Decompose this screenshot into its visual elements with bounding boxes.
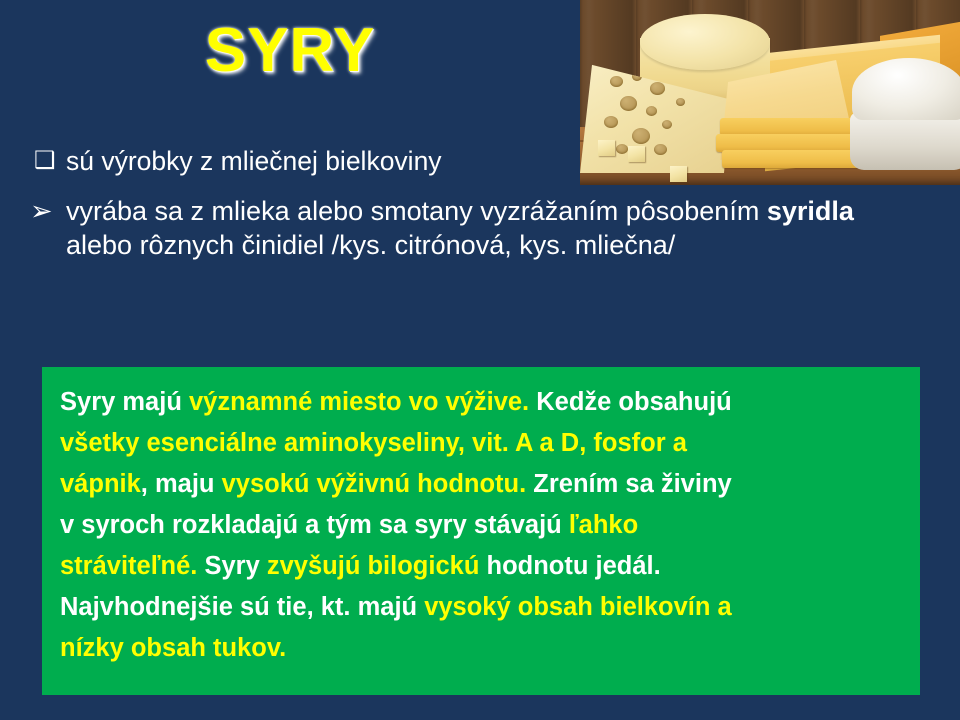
list-item: ➢ vyrába sa z mlieka alebo smotany vyzrá… [18,194,918,262]
arrow-bullet-icon: ➢ [30,194,53,228]
callout-line: vápnik, maju vysokú výživnú hodnotu. Zre… [60,464,902,505]
list-item: ❑ sú výrobky z mliečnej bielkoviny [18,144,918,178]
slide-canvas: SYRY [0,0,960,720]
emphasis-syridla: syridla [767,196,854,226]
callout-line: Najvhodnejšie sú tie, kt. majú vysoký ob… [60,587,902,628]
brie-wheel-top [852,58,960,120]
callout-line: všetky esenciálne aminokyseliny, vit. A … [60,423,902,464]
callout-line: v syroch rozkladajú a tým sa syry stávaj… [60,505,902,546]
callout-line: Syry majú významné miesto vo výžive. Ked… [60,382,902,423]
list-item-text: vyrába sa z mlieka alebo smotany vyzráža… [66,196,854,260]
square-bullet-icon: ❑ [34,144,56,178]
callout-line: stráviteľné. Syry zvyšujú bilogickú hodn… [60,546,902,587]
page-title: SYRY [0,18,580,83]
green-callout-box: Syry majú významné miesto vo výžive. Ked… [42,367,920,695]
bullet-list: ❑ sú výrobky z mliečnej bielkoviny ➢ vyr… [18,144,918,270]
cheese-wheel-top [640,14,770,70]
list-item-text: sú výrobky z mliečnej bielkoviny [66,146,442,176]
callout-line: nízky obsah tukov. [60,628,902,669]
